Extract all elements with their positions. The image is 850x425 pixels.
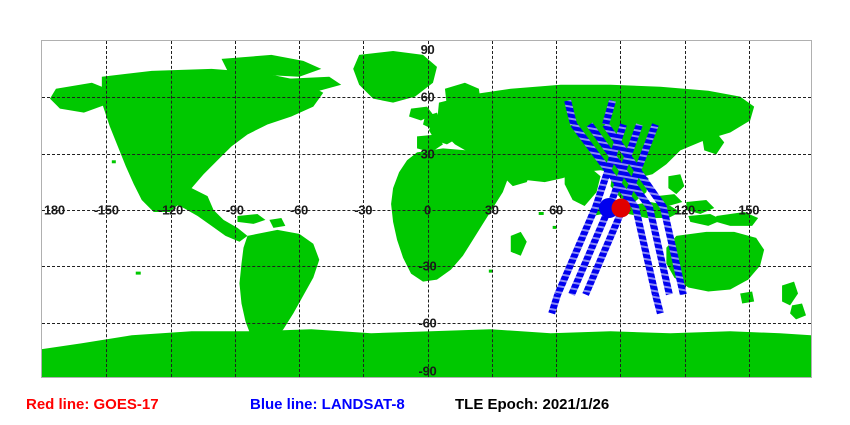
legend: Red line: GOES-17 Blue line: LANDSAT-8 T… xyxy=(0,392,850,420)
legend-landsat-8: Blue line: LANDSAT-8 xyxy=(250,397,405,412)
tick-lon-0: 0 xyxy=(424,204,431,217)
tick-lon-120: 120 xyxy=(674,204,695,217)
tick-lon-60: 60 xyxy=(549,204,563,217)
tick-lon-150: 150 xyxy=(738,204,759,217)
legend-goes-17: Red line: GOES-17 xyxy=(26,397,159,412)
tick-lon-minus60: -60 xyxy=(290,204,308,217)
tick-lon-minus90: -90 xyxy=(226,204,244,217)
tick-lat-30: 30 xyxy=(421,147,435,160)
goes-17-marker[interactable] xyxy=(612,199,631,218)
tick-lat-90: 90 xyxy=(421,43,435,56)
tick-lon-180: 180 xyxy=(44,204,65,217)
tick-lon-minus120: -120 xyxy=(158,204,183,217)
tick-lon-minus150: -150 xyxy=(94,204,119,217)
tick-lon-minus30: -30 xyxy=(354,204,372,217)
tick-lat-minus90: -90 xyxy=(419,365,437,378)
tick-lat-minus60: -60 xyxy=(419,316,437,329)
tick-lat-minus30: -30 xyxy=(419,260,437,273)
tick-lat-60: 60 xyxy=(421,91,435,104)
legend-tle-epoch: TLE Epoch: 2021/1/26 xyxy=(455,397,609,412)
tick-lon-30: 30 xyxy=(485,204,499,217)
satellite-ground-track-map: 0 30 60 90 120 150 180 -150 -120 -90 -60… xyxy=(0,0,850,425)
map-frame: 0 30 60 90 120 150 180 -150 -120 -90 -60… xyxy=(41,40,812,378)
